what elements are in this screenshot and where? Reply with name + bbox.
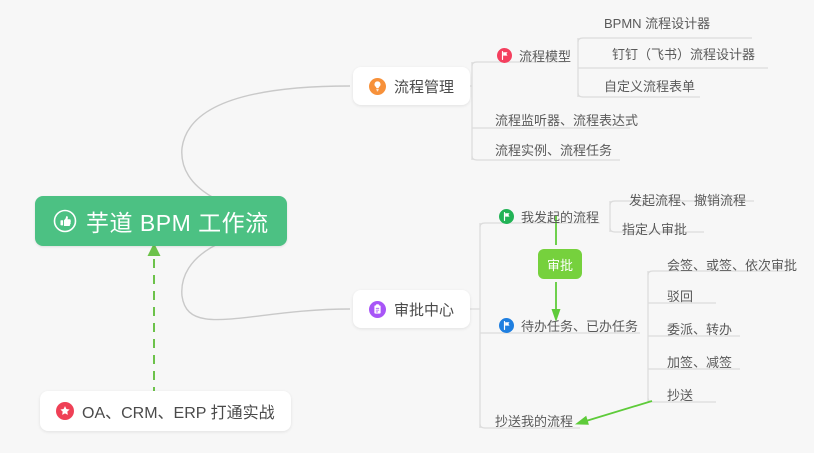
leaf-designated-approver[interactable]: 指定人审批 — [615, 214, 693, 242]
thumbs-up-icon — [53, 209, 77, 233]
leaf-delegate-transfer[interactable]: 委派、转办 — [660, 314, 738, 342]
annotation-approval-tag: 审批 — [538, 249, 582, 279]
footnote-node[interactable]: OA、CRM、ERP 打通实战 — [40, 391, 291, 431]
leaf-label: BPMN 流程设计器 — [604, 13, 710, 32]
leaf-countersign[interactable]: 会签、或签、依次审批 — [660, 250, 803, 278]
leaf-label: 抄送 — [667, 385, 693, 404]
node-label-my-initiated: 我发起的流程 — [521, 207, 599, 226]
leaf-label: 发起流程、撤销流程 — [629, 190, 746, 209]
leaf-bpmn-designer[interactable]: BPMN 流程设计器 — [597, 8, 716, 36]
node-label-process-model: 流程模型 — [519, 46, 571, 65]
leaf-add-remove-sign[interactable]: 加签、减签 — [660, 347, 738, 375]
lightbulb-icon — [369, 78, 386, 95]
node-cc-to-me[interactable]: 抄送我的流程 — [488, 406, 579, 434]
mindmap-canvas: 芋道 BPM 工作流 OA、CRM、ERP 打通实战 流程管理 — [0, 0, 814, 453]
leaf-label: 流程实例、流程任务 — [495, 140, 612, 159]
leaf-start-cancel-process[interactable]: 发起流程、撤销流程 — [622, 185, 752, 213]
flag-green-icon — [499, 209, 514, 224]
node-label-todo-done-tasks: 待办任务、已办任务 — [521, 316, 638, 335]
node-my-initiated[interactable]: 我发起的流程 — [492, 202, 605, 230]
clipboard-icon — [369, 301, 386, 318]
leaf-cc[interactable]: 抄送 — [660, 380, 699, 408]
annotation-label: 审批 — [547, 255, 573, 274]
flag-red-icon — [497, 48, 512, 63]
branch-label-approval-center: 审批中心 — [394, 299, 454, 320]
footnote-label: OA、CRM、ERP 打通实战 — [82, 399, 275, 423]
leaf-process-listener[interactable]: 流程监听器、流程表达式 — [488, 105, 644, 133]
node-process-model[interactable]: 流程模型 — [490, 41, 577, 69]
root-node[interactable]: 芋道 BPM 工作流 — [35, 196, 287, 246]
flag-blue-icon — [499, 318, 514, 333]
leaf-label: 流程监听器、流程表达式 — [495, 110, 638, 129]
leaf-label: 委派、转办 — [667, 319, 732, 338]
leaf-process-instance[interactable]: 流程实例、流程任务 — [488, 135, 618, 163]
branch-node-process-management[interactable]: 流程管理 — [353, 67, 470, 105]
leaf-dingtalk-designer[interactable]: 钉钉（飞书）流程设计器 — [605, 39, 761, 67]
branch-label-process-management: 流程管理 — [394, 76, 454, 97]
root-label: 芋道 BPM 工作流 — [86, 204, 269, 238]
leaf-label: 加签、减签 — [667, 352, 732, 371]
node-label-cc-to-me: 抄送我的流程 — [495, 411, 573, 430]
leaf-label: 会签、或签、依次审批 — [667, 255, 797, 274]
leaf-custom-form[interactable]: 自定义流程表单 — [597, 71, 701, 99]
node-todo-done-tasks[interactable]: 待办任务、已办任务 — [492, 311, 644, 339]
star-icon — [56, 402, 74, 420]
leaf-label: 钉钉（飞书）流程设计器 — [612, 44, 755, 63]
branch-node-approval-center[interactable]: 审批中心 — [353, 290, 470, 328]
leaf-label: 指定人审批 — [622, 219, 687, 238]
leaf-label: 自定义流程表单 — [604, 76, 695, 95]
leaf-label: 驳回 — [667, 286, 693, 305]
leaf-reject[interactable]: 驳回 — [660, 281, 699, 309]
